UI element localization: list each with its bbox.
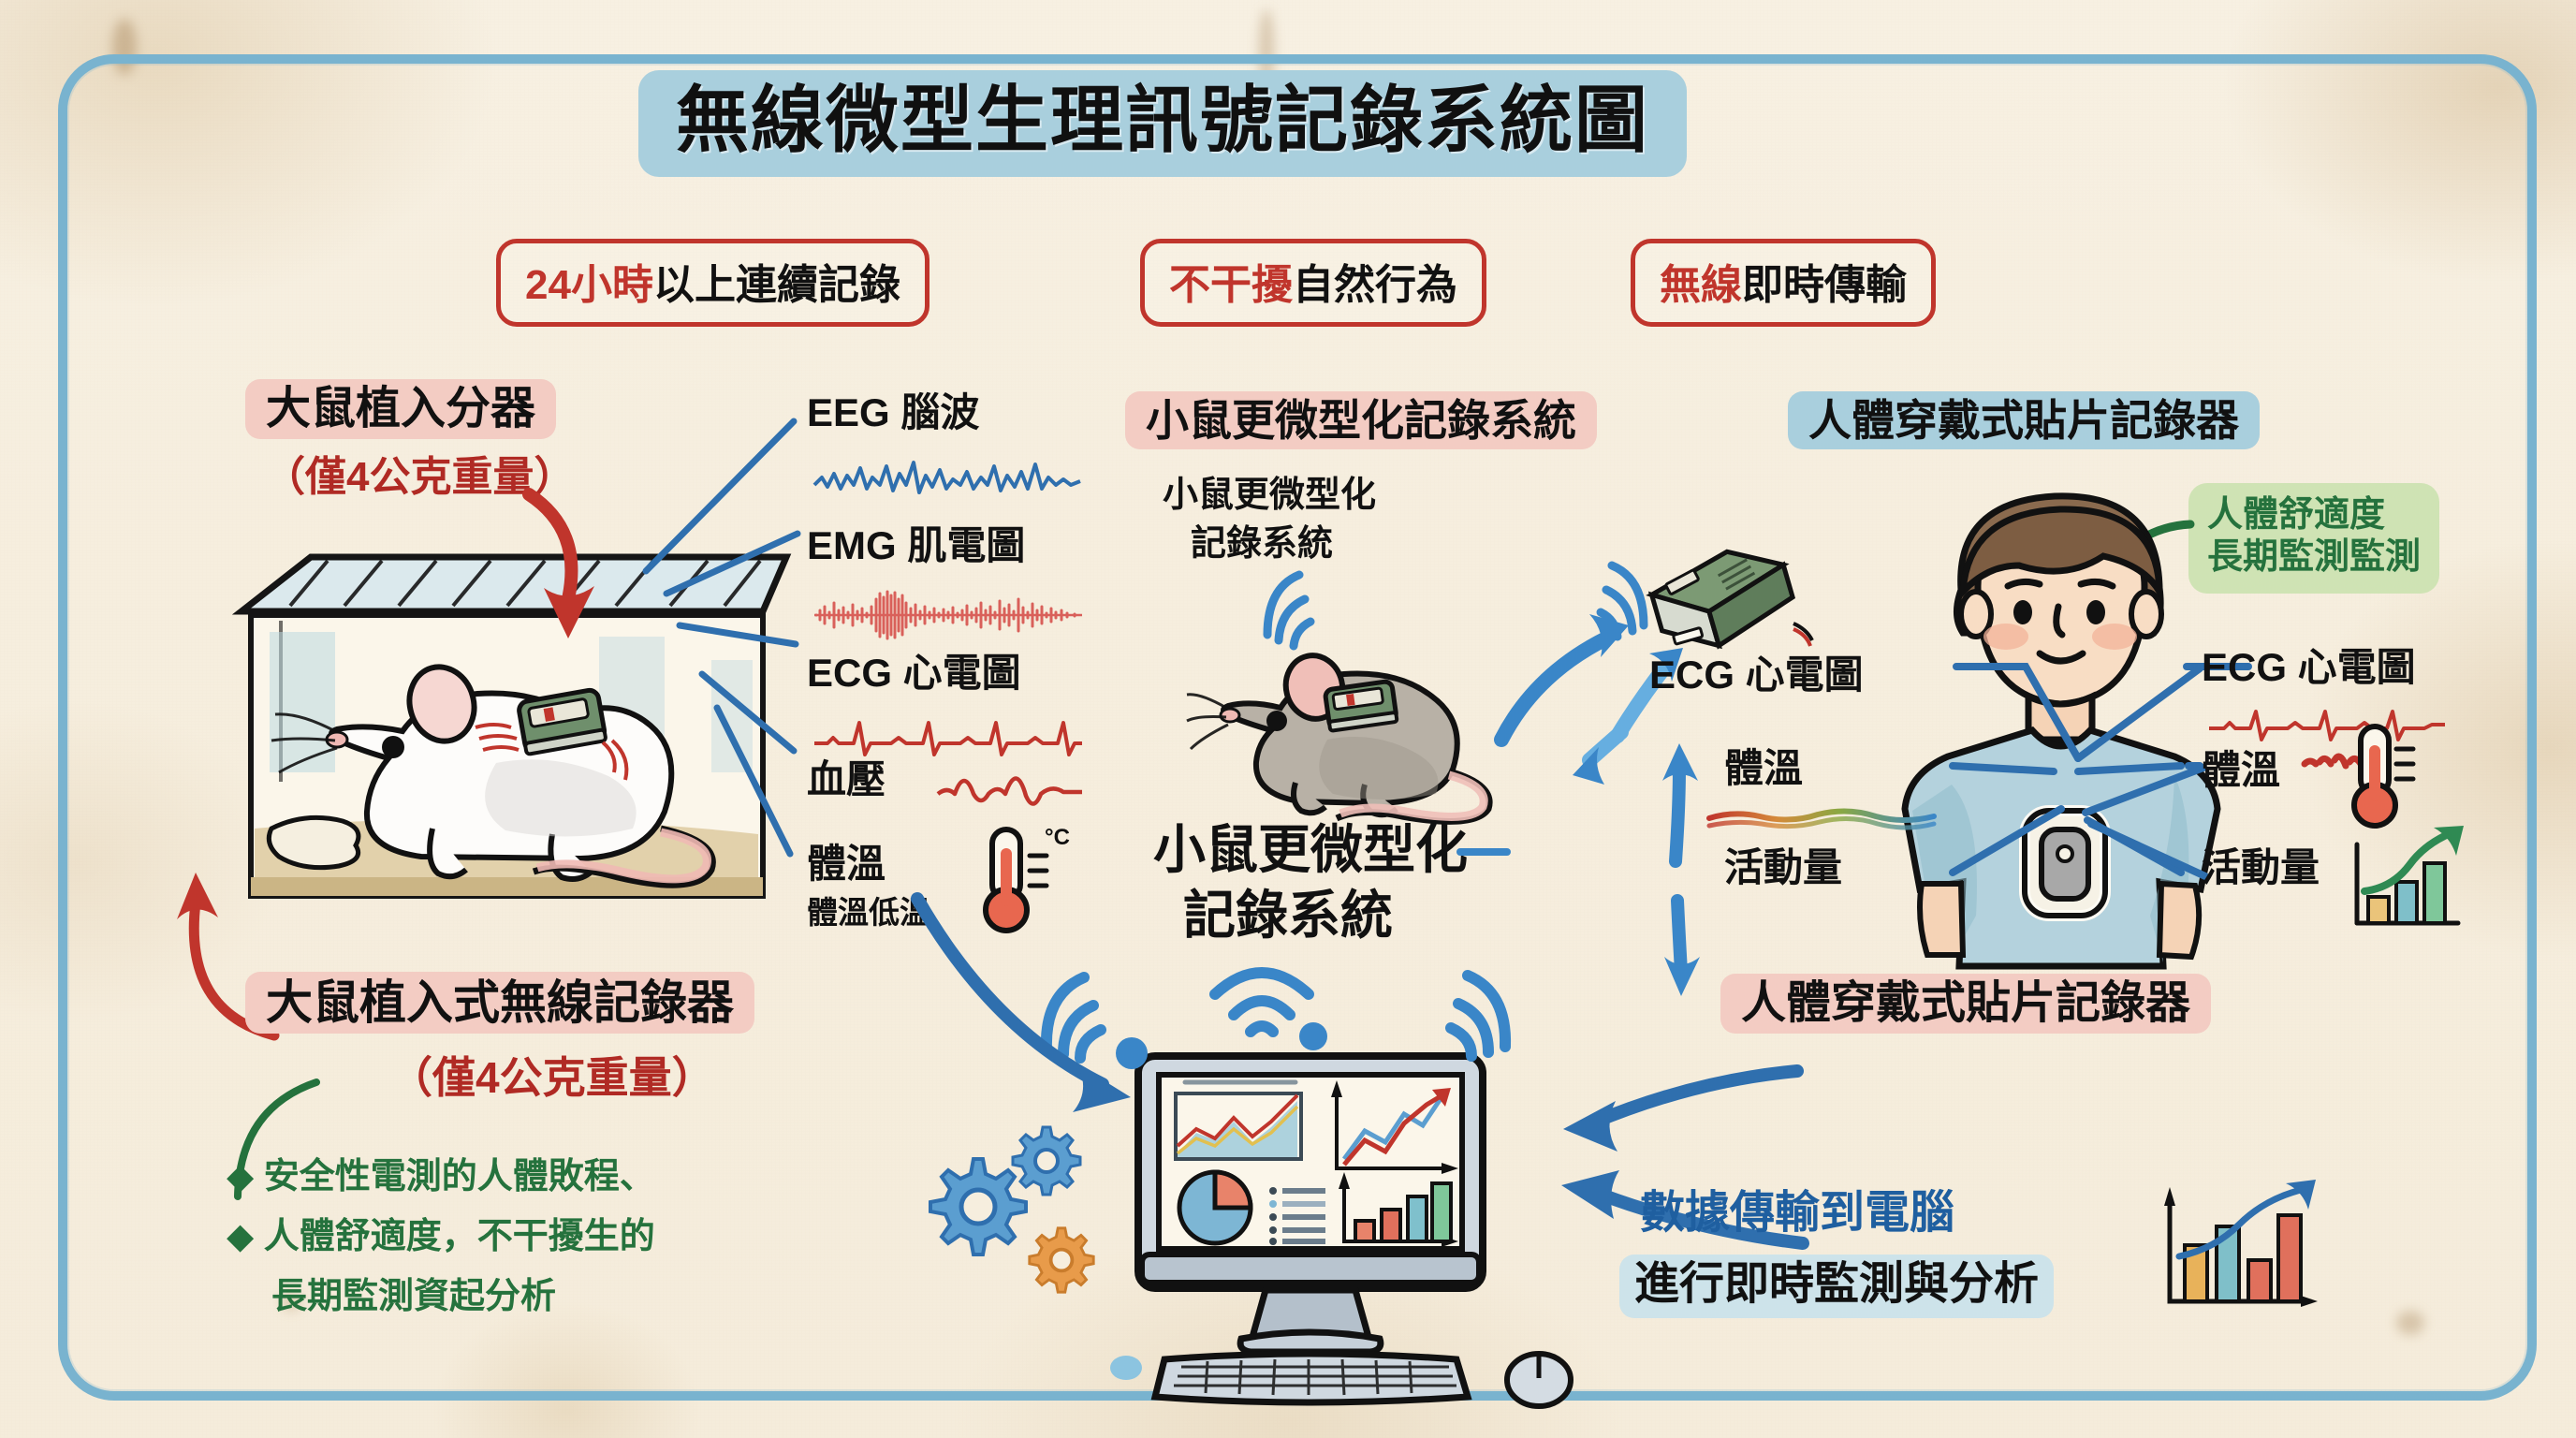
page-title: 無線微型生理訊號記錄系統圖 — [638, 70, 1687, 177]
left-to-computer-arrow — [899, 889, 1161, 1152]
emg-waveform — [812, 590, 1084, 640]
signal-label-temp: 體溫 — [807, 844, 885, 884]
signal-label-ecg: ECG 心電圖 — [807, 653, 1021, 693]
right-left-label-ecg: ECG 心電圖 — [1649, 655, 1864, 695]
middle-big-line2: 記錄系統 — [1183, 889, 1393, 942]
badge-rest: 即時傳輸 — [1742, 262, 1907, 308]
right-right-label-ecg: ECG 心電圖 — [2202, 648, 2416, 687]
computer-caption-line2: 進行即時監測與分析 — [1619, 1255, 2054, 1318]
left-heading: 大鼠植入分器 — [245, 379, 556, 439]
bullet-marker: ◆ — [227, 1157, 254, 1196]
right-left-label-activity: 活動量 — [1724, 848, 1842, 888]
signal-label-emg: EMG 肌電圖 — [807, 526, 1025, 565]
computer-mouse-icon — [1498, 1348, 1582, 1414]
decor-dot — [1116, 1037, 1148, 1069]
eeg-waveform — [812, 457, 1084, 502]
middle-tick-line — [1456, 843, 1513, 861]
badge-emphasis: 24小時 — [525, 262, 653, 308]
decor-dot — [1110, 1356, 1142, 1380]
badge-emphasis: 無線 — [1660, 262, 1742, 308]
right-bottom-heading: 人體穿戴式貼片記錄器 — [1720, 974, 2211, 1034]
thermometer-icon — [2303, 721, 2415, 833]
left-bullet-1: ◆ 安全性電測的人體敗程、 — [227, 1159, 655, 1195]
left-bullet-2: ◆ 人體舒適度，不干擾生的 — [227, 1219, 655, 1255]
signal-label-bp: 血壓 — [807, 760, 885, 800]
middle-sub-line1: 小鼠更微型化 — [1163, 477, 1376, 513]
middle-big-line1: 小鼠更微型化 — [1153, 824, 1468, 876]
badge-rest: 自然行為 — [1293, 262, 1457, 308]
computer-caption-line1: 數據傳輸到電腦 — [1640, 1191, 1954, 1236]
badge-rest: 以上連續記錄 — [653, 262, 900, 308]
signal-label-eeg: EEG 腦波 — [807, 393, 979, 433]
decor-dot — [1299, 1022, 1327, 1050]
right-heading: 人體穿戴式貼片記錄器 — [1788, 391, 2260, 449]
left-bullet-2-cont: 長期監測資起分析 — [271, 1279, 556, 1314]
bullet-marker: ◆ — [227, 1217, 254, 1256]
wifi-icon — [1427, 970, 1529, 1060]
ecg-waveform — [812, 713, 1084, 758]
temperature-gradient-wave — [1705, 805, 1939, 833]
badge-emphasis: 不干擾 — [1169, 262, 1293, 308]
right-left-label-temp: 體溫 — [1724, 749, 1803, 788]
bullet-text: 人體舒適度，不干擾生的 — [264, 1217, 655, 1256]
middle-heading: 小鼠更微型化記錄系統 — [1125, 391, 1597, 449]
bullet-text: 安全性電測的人體敗程、 — [264, 1157, 655, 1196]
left-bottom-sub: （僅4公克重量） — [389, 1056, 715, 1099]
blood-pressure-waveform — [936, 760, 1086, 816]
wifi-icon — [1207, 957, 1316, 1037]
computer-illustration — [1123, 1049, 1498, 1404]
left-bottom-heading: 大鼠植入式無線記錄器 — [245, 972, 754, 1034]
badge-wireless-realtime: 無線即時傳輸 — [1631, 239, 1936, 327]
bar-chart-icon — [2153, 1178, 2321, 1328]
left-leader-lines — [562, 393, 842, 917]
right-right-label-activity: 活動量 — [2202, 848, 2320, 888]
badge-continuous-recording: 24小時以上連續記錄 — [496, 239, 929, 327]
middle-sub-line2: 記錄系統 — [1191, 526, 1333, 562]
right-right-label-temp: 體溫 — [2202, 751, 2280, 790]
wifi-icon — [1247, 569, 1337, 652]
badge-no-interference: 不干擾自然行為 — [1140, 239, 1486, 327]
bar-chart-arrow-icon — [2348, 824, 2469, 936]
gear-icon — [1026, 1225, 1097, 1296]
thermometer-unit-label: °C — [1045, 825, 1070, 850]
